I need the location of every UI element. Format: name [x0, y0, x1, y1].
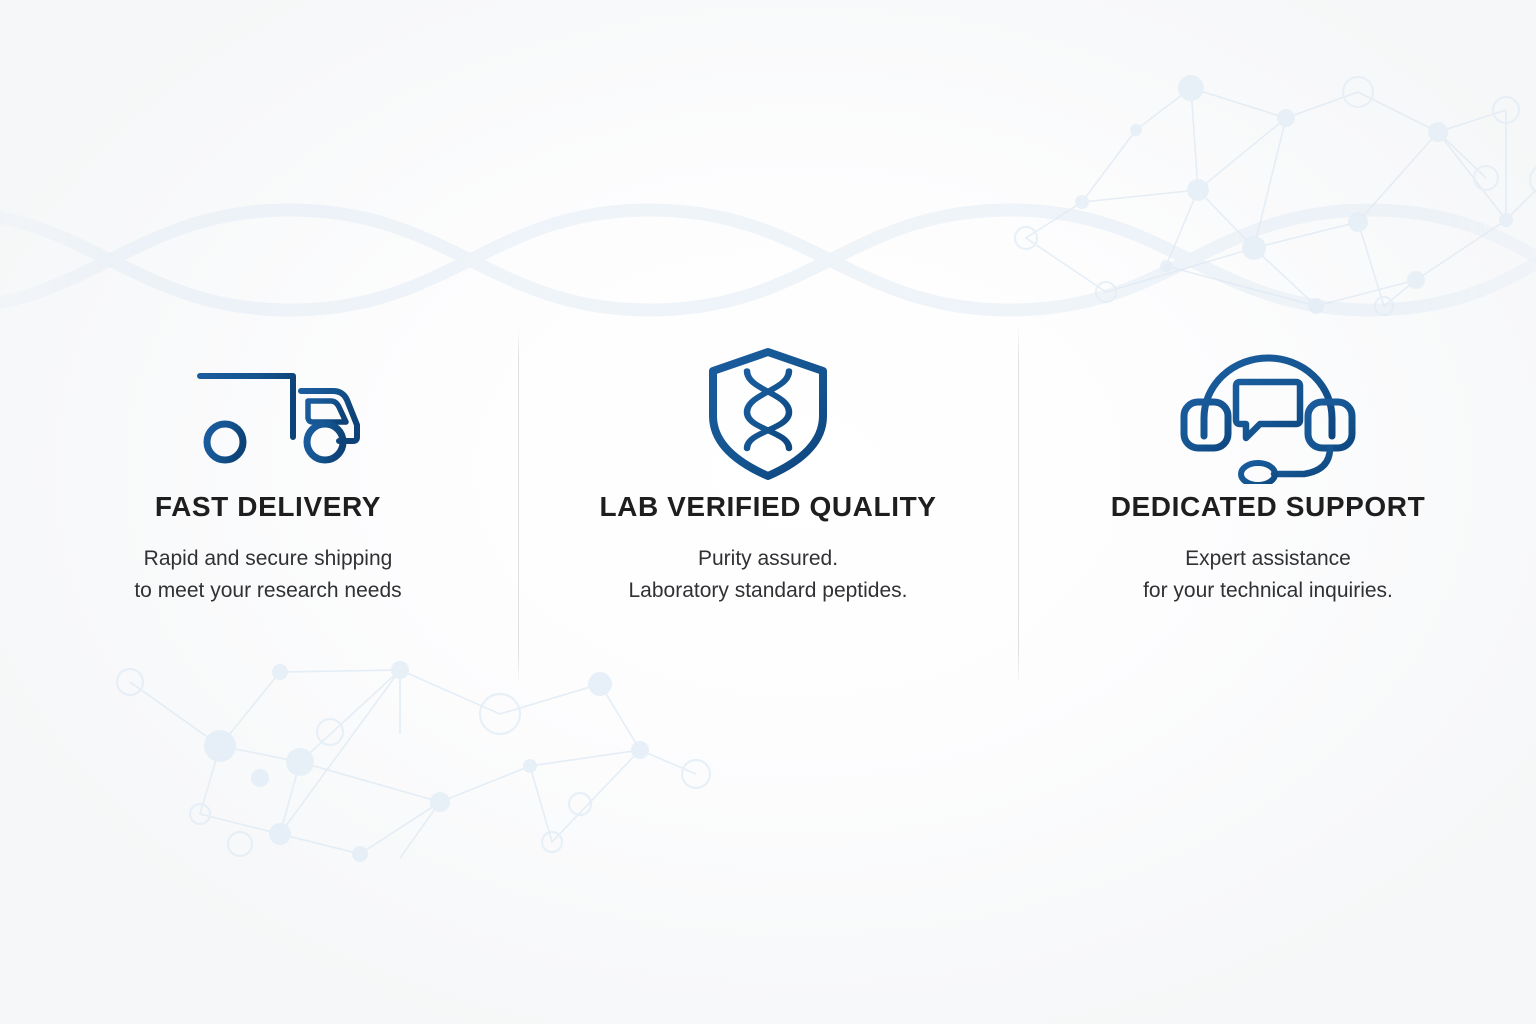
dedicated-support-icon-wrap	[1178, 339, 1358, 489]
feature-description: Rapid and secure shipping to meet your r…	[134, 521, 401, 607]
fast-delivery-icon-wrap	[143, 339, 393, 489]
fast-delivery-truck-icon	[143, 349, 393, 479]
feature-description-line: Rapid and secure shipping	[134, 543, 401, 575]
feature-card-dedicated-support: DEDICATED SUPPORT Expert assistance for …	[1018, 325, 1518, 687]
feature-description: Purity assured. Laboratory standard pept…	[628, 521, 907, 607]
trust-badges-section: FAST DELIVERY Rapid and secure shipping …	[0, 0, 1536, 1024]
feature-description-line: Expert assistance	[1143, 543, 1393, 575]
feature-description: Expert assistance for your technical inq…	[1143, 521, 1393, 607]
feature-description-line: Laboratory standard peptides.	[628, 575, 907, 607]
feature-card-fast-delivery: FAST DELIVERY Rapid and secure shipping …	[18, 325, 518, 687]
feature-title: LAB VERIFIED QUALITY	[599, 489, 936, 521]
feature-card-lab-verified-quality: LAB VERIFIED QUALITY Purity assured. Lab…	[518, 325, 1018, 687]
lab-verified-icon-wrap	[693, 339, 843, 489]
dna-helix-watermark	[0, 190, 1536, 330]
features-row: FAST DELIVERY Rapid and secure shipping …	[0, 325, 1536, 687]
shield-dna-icon	[693, 344, 843, 484]
feature-description-line: Purity assured.	[628, 543, 907, 575]
headset-support-icon	[1178, 344, 1358, 484]
feature-title: FAST DELIVERY	[155, 489, 381, 521]
feature-description-line: to meet your research needs	[134, 575, 401, 607]
molecule-network-top-right	[986, 70, 1536, 350]
molecule-network-bottom-left	[100, 654, 720, 884]
feature-title: DEDICATED SUPPORT	[1111, 489, 1426, 521]
feature-description-line: for your technical inquiries.	[1143, 575, 1393, 607]
